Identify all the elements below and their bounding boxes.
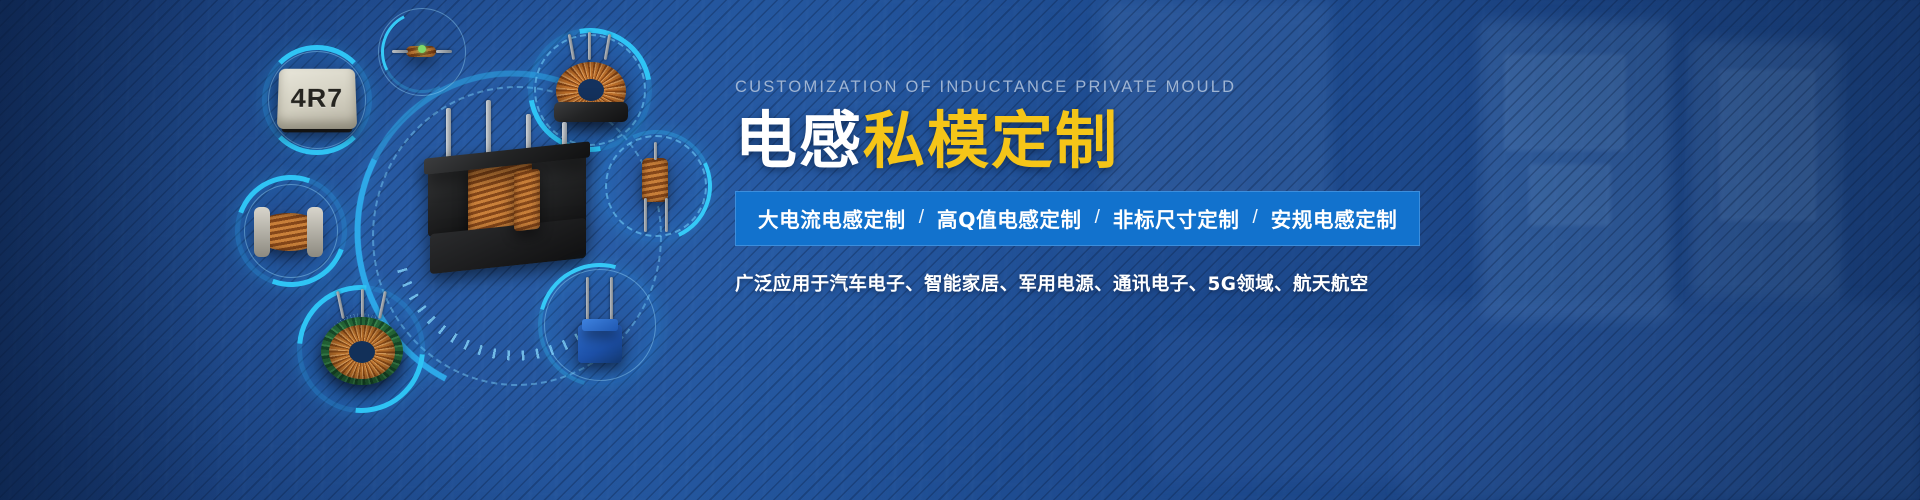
promo-banner: 4R7 — [0, 0, 1920, 500]
feature-tag-1[interactable]: 高Q值电感定制 — [937, 203, 1082, 233]
coil-lead — [644, 198, 647, 232]
common-mode-choke-main — [410, 100, 620, 290]
bobbin-cap — [582, 319, 618, 331]
product-ring-drum-core — [235, 175, 347, 287]
product-ring-rod-coil — [600, 130, 712, 242]
banner-description: 广泛应用于汽车电子、智能家居、军用电源、通讯电子、5G领域、航天航空 — [735, 270, 1395, 296]
feature-tag-0[interactable]: 大电流电感定制 — [758, 203, 906, 233]
feature-tag-3[interactable]: 安规电感定制 — [1271, 203, 1398, 233]
green-toroidal-inductor — [317, 305, 407, 393]
product-ring-blue-bobbin — [540, 265, 660, 385]
chip-label: 4R7 — [277, 69, 357, 129]
rod-core-coil — [634, 148, 678, 232]
drum-core-inductor — [257, 205, 327, 261]
tag-separator: / — [906, 207, 937, 229]
product-ring-smd-chip: 4R7 — [262, 45, 372, 155]
feature-tag-2[interactable]: 非标尺寸定制 — [1113, 203, 1240, 233]
toroid-core-hole — [349, 341, 375, 363]
coil-core-dot — [418, 45, 426, 53]
toroid-lead — [588, 32, 591, 60]
coil-lead — [665, 198, 668, 232]
banner-headline: 电感私模定制 — [735, 108, 1395, 175]
coil-lead — [654, 142, 657, 160]
headline-part-yellow: 私模定制 — [863, 104, 1119, 177]
feature-tag-bar: 大电流电感定制 / 高Q值电感定制 / 非标尺寸定制 / 安规电感定制 — [735, 191, 1420, 246]
feature-tag-list: 大电流电感定制 / 高Q值电感定制 / 非标尺寸定制 / 安规电感定制 — [758, 203, 1397, 233]
axial-coil — [392, 44, 452, 58]
chip-body: 4R7 — [277, 69, 357, 129]
product-ring-axial-coil — [378, 8, 466, 96]
banner-eyebrow-en: CUSTOMIZATION OF INDUCTANCE PRIVATE MOUL… — [735, 78, 1395, 97]
toroid-core-hole — [578, 79, 604, 101]
coil-lead — [392, 50, 408, 53]
core-flange — [307, 207, 323, 257]
banner-text-block: CUSTOMIZATION OF INDUCTANCE PRIVATE MOUL… — [735, 78, 1395, 296]
headline-part-white: 电感 — [735, 104, 863, 177]
copper-winding — [642, 158, 668, 202]
choke-copper-winding-2 — [514, 169, 540, 232]
toroid-lead — [361, 289, 364, 319]
coil-lead — [436, 50, 452, 53]
core-flange — [254, 207, 270, 257]
blue-bobbin-inductor — [570, 277, 632, 373]
tag-separator: / — [1240, 207, 1271, 229]
product-ring-green-toroid — [297, 285, 425, 413]
tag-separator: / — [1082, 207, 1113, 229]
